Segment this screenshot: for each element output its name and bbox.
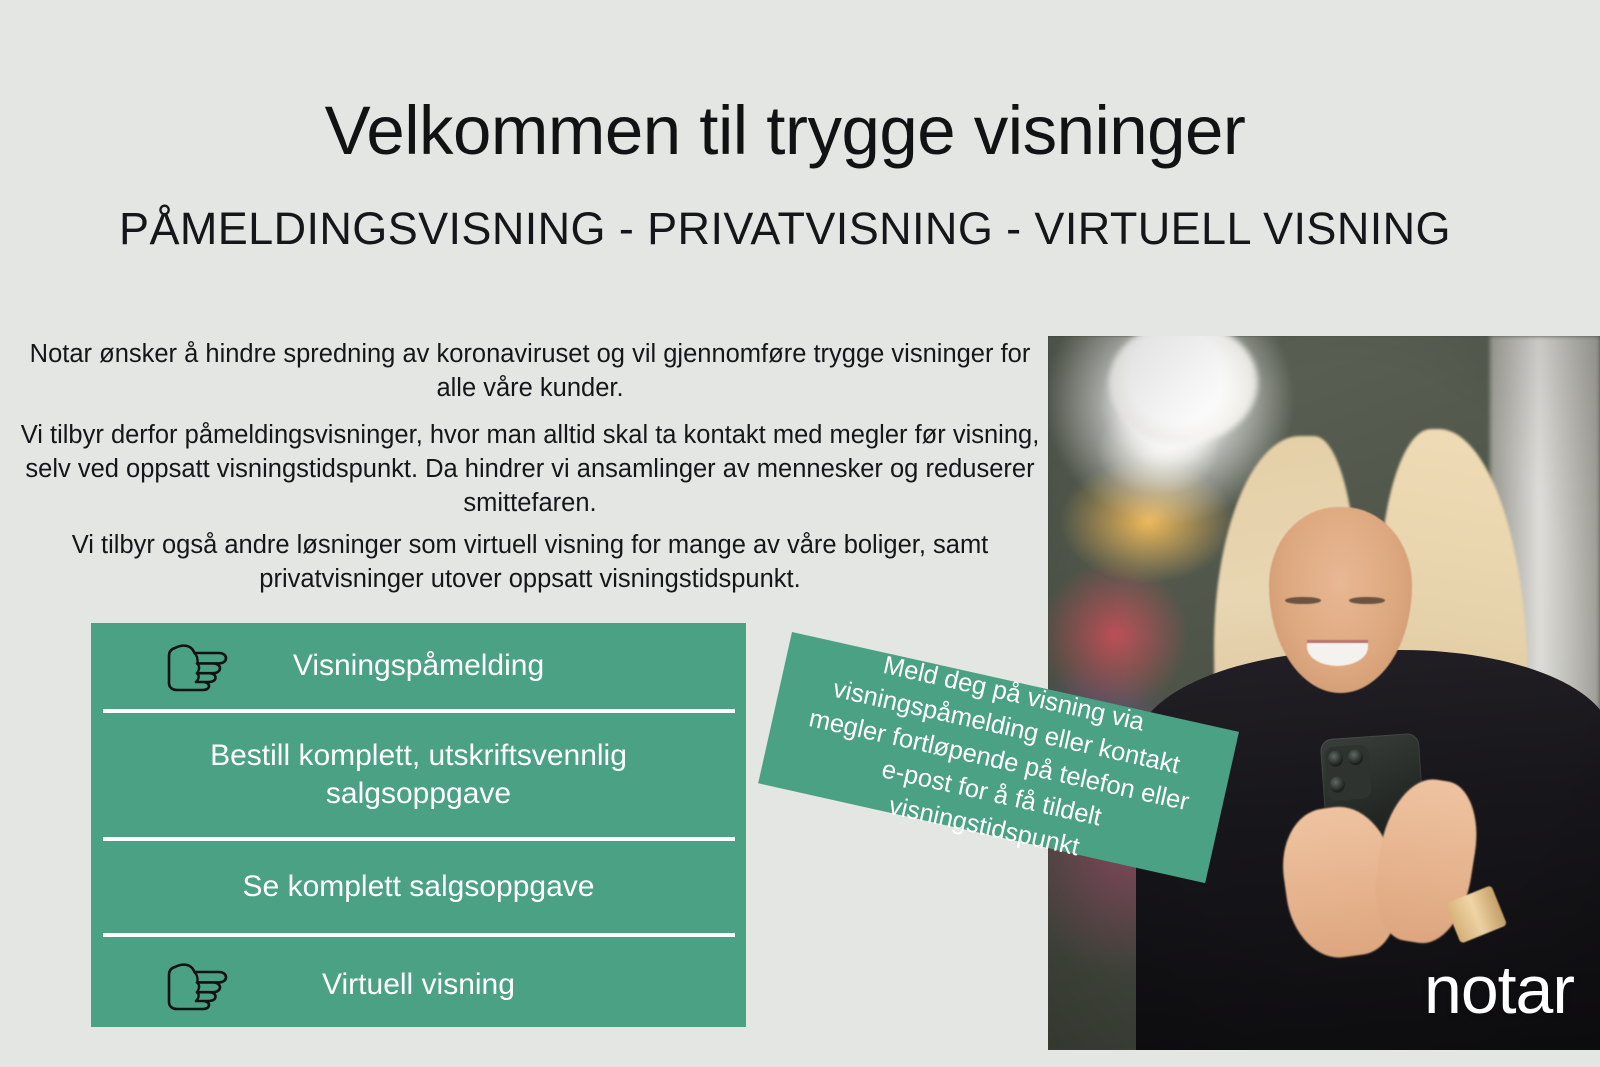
service-menu-card: Visningspåmelding Bestill komplett, utsk… [91,623,746,1027]
menu-item-visningspamelding[interactable]: Visningspåmelding [91,623,746,709]
menu-item-label: Visningspåmelding [293,647,544,685]
registration-paragraph: Vi tilbyr derfor påmeldingsvisninger, hv… [16,418,1044,520]
menu-item-se-salgsoppgave[interactable]: Se komplett salgsoppgave [91,841,746,933]
intro-paragraph: Notar ønsker å hindre spredning av koron… [16,337,1044,405]
pointing-hand-icon [157,638,233,694]
page-subtitle: PÅMELDINGSVISNING - PRIVATVISNING - VIRT… [0,206,1570,251]
notar-logo: notar [1424,956,1574,1024]
pointing-hand-icon [157,957,233,1013]
alternatives-paragraph: Vi tilbyr også andre løsninger som virtu… [16,528,1044,596]
photo-vignette [1048,336,1600,1050]
page-title: Velkommen til trygge visninger [0,96,1570,165]
menu-item-label: Se komplett salgsoppgave [91,868,746,906]
menu-item-bestill-salgsoppgave[interactable]: Bestill komplett, utskriftsvennlig salgs… [91,713,746,837]
poster-page: Velkommen til trygge visninger PÅMELDING… [0,0,1600,1067]
hero-photo: notar [1048,336,1600,1050]
menu-item-label: Bestill komplett, utskriftsvennlig salgs… [131,737,706,813]
menu-item-virtuell-visning[interactable]: Virtuell visning [91,937,746,1033]
